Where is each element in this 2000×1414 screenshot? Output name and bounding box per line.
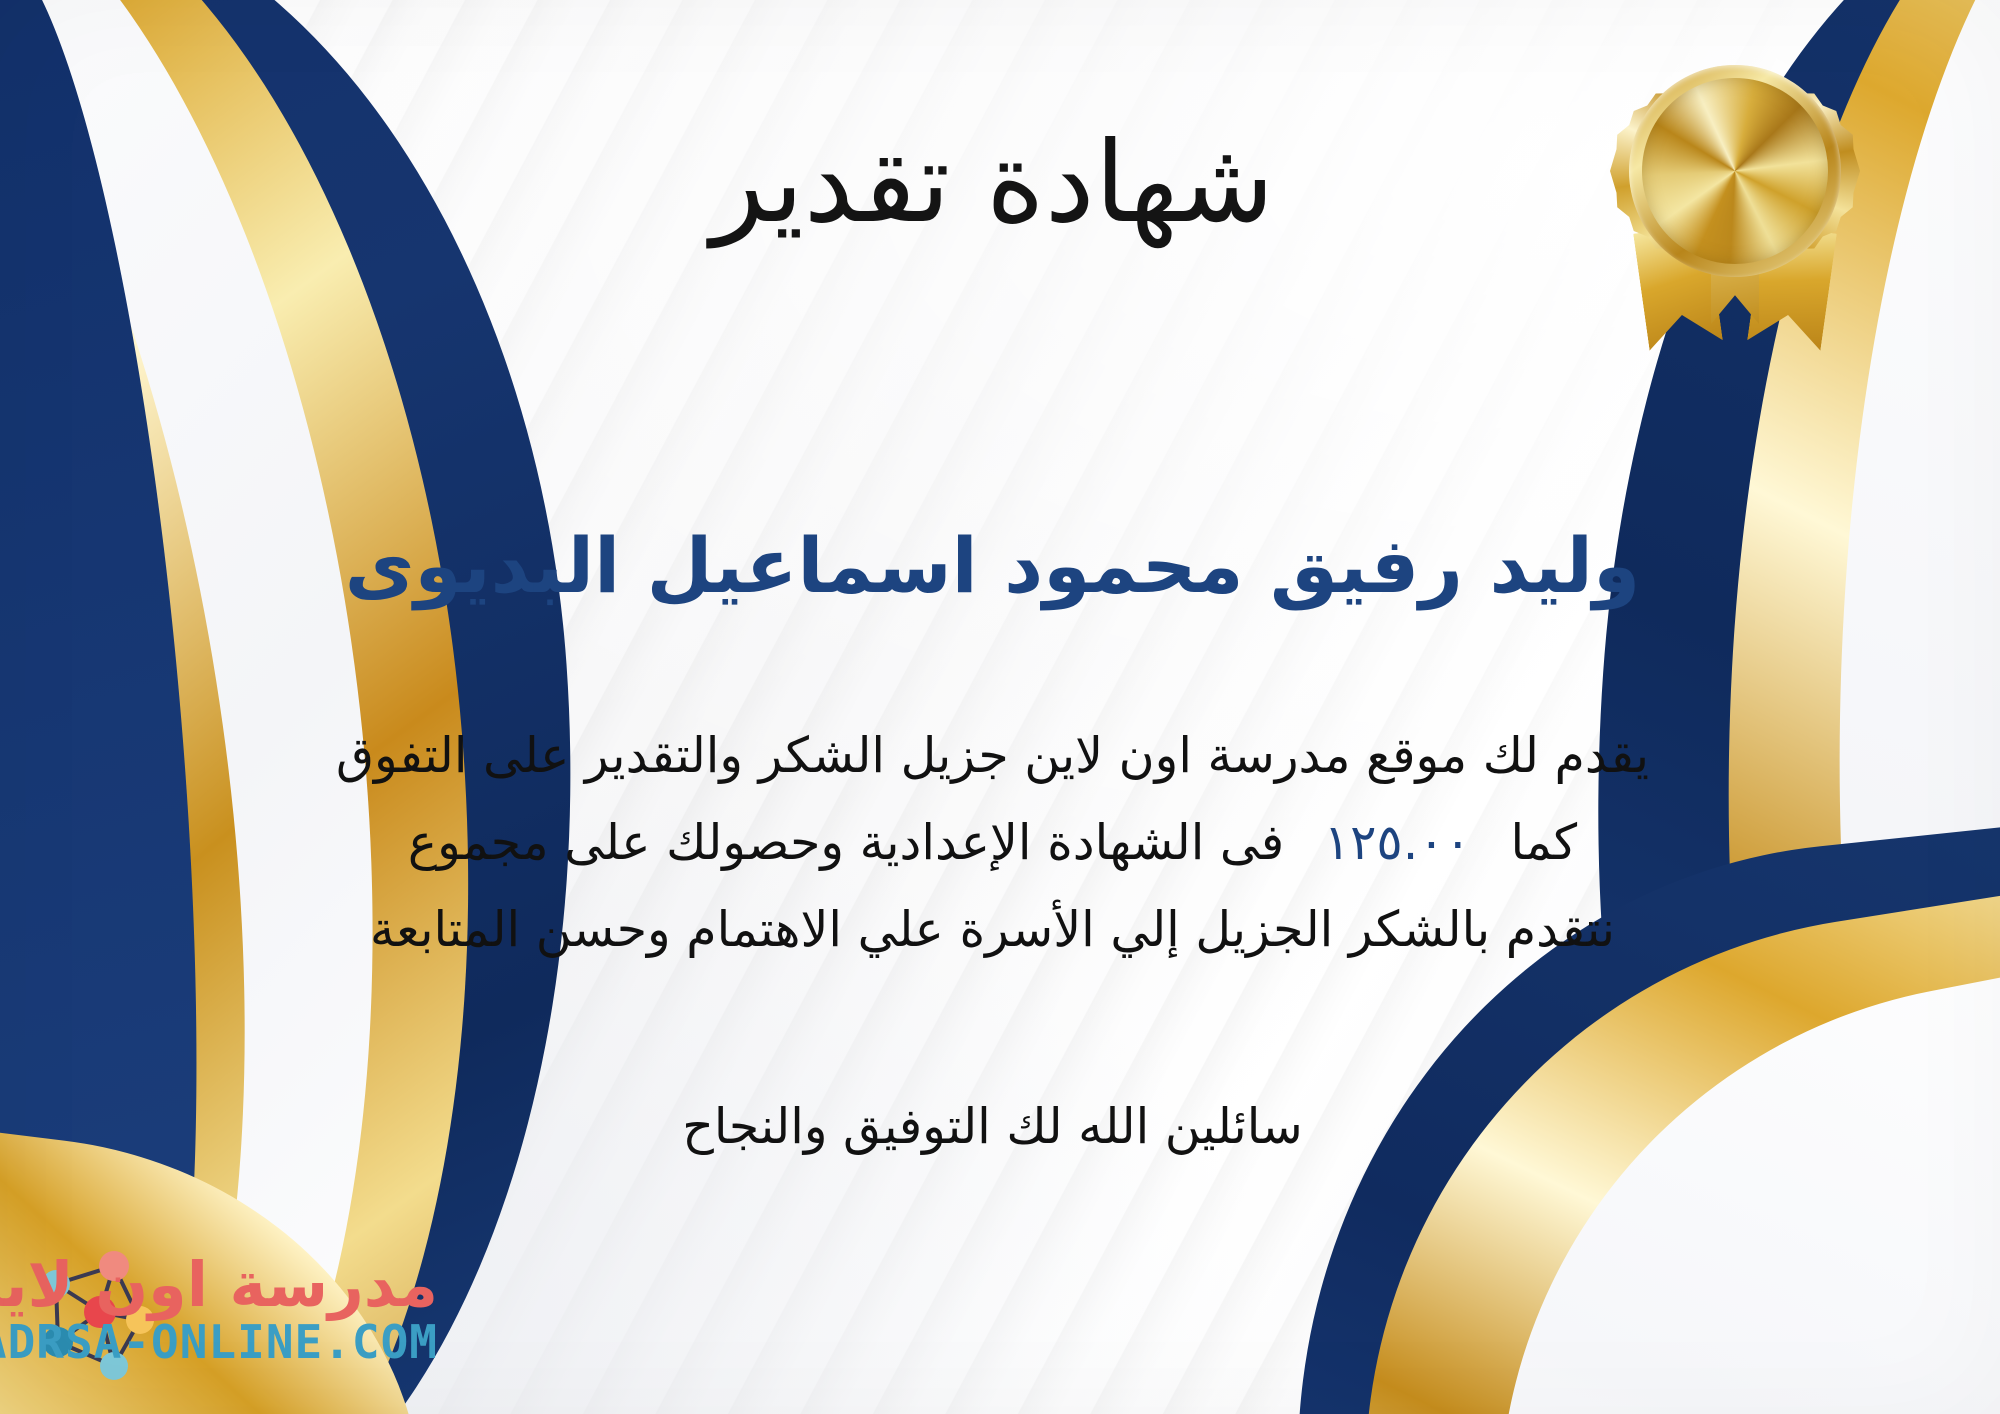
brand-website: MADRSA-ONLINE.COM [0, 1317, 438, 1368]
body-line-1: يقدم لك موقع مدرسة اون لاين جزيل الشكر و… [195, 712, 1790, 799]
certificate-canvas: شهادة تقدير وليد رفيق محمود اسماعيل البد… [0, 0, 2000, 1414]
body-line-2: كما ١٢٥.٠٠ فى الشهادة الإعدادية وحصولك ع… [195, 799, 1790, 886]
certificate-body: يقدم لك موقع مدرسة اون لاين جزيل الشكر و… [195, 712, 1790, 974]
closing-wish-line: سائلين الله لك التوفيق والنجاح [215, 1098, 1770, 1155]
certificate-title: شهادة تقدير [215, 122, 1770, 245]
body-line-2-prefix: فى الشهادة الإعدادية وحصولك على مجموع [408, 814, 1284, 871]
left-navy-hairline [0, 0, 247, 1414]
brand-text-block: مدرسة اون لاين MADRSA-ONLINE.COM [0, 1252, 438, 1368]
brand-arabic-name: مدرسة اون لاين [0, 1252, 438, 1317]
grade-total-value: ١٢٥.٠٠ [1300, 814, 1495, 871]
left-navy-ribbon-inner [0, 0, 239, 1414]
body-line-2-suffix: كما [1511, 814, 1578, 871]
body-line-3: نتقدم بالشكر الجزيل إلي الأسرة علي الاهت… [195, 886, 1790, 973]
brand-logo[interactable]: مدرسة اون لاين MADRSA-ONLINE.COM [28, 1246, 588, 1396]
certificate-content: شهادة تقدير وليد رفيق محمود اسماعيل البد… [215, 0, 1770, 1414]
recipient-name: وليد رفيق محمود اسماعيل البديوى [215, 520, 1770, 611]
